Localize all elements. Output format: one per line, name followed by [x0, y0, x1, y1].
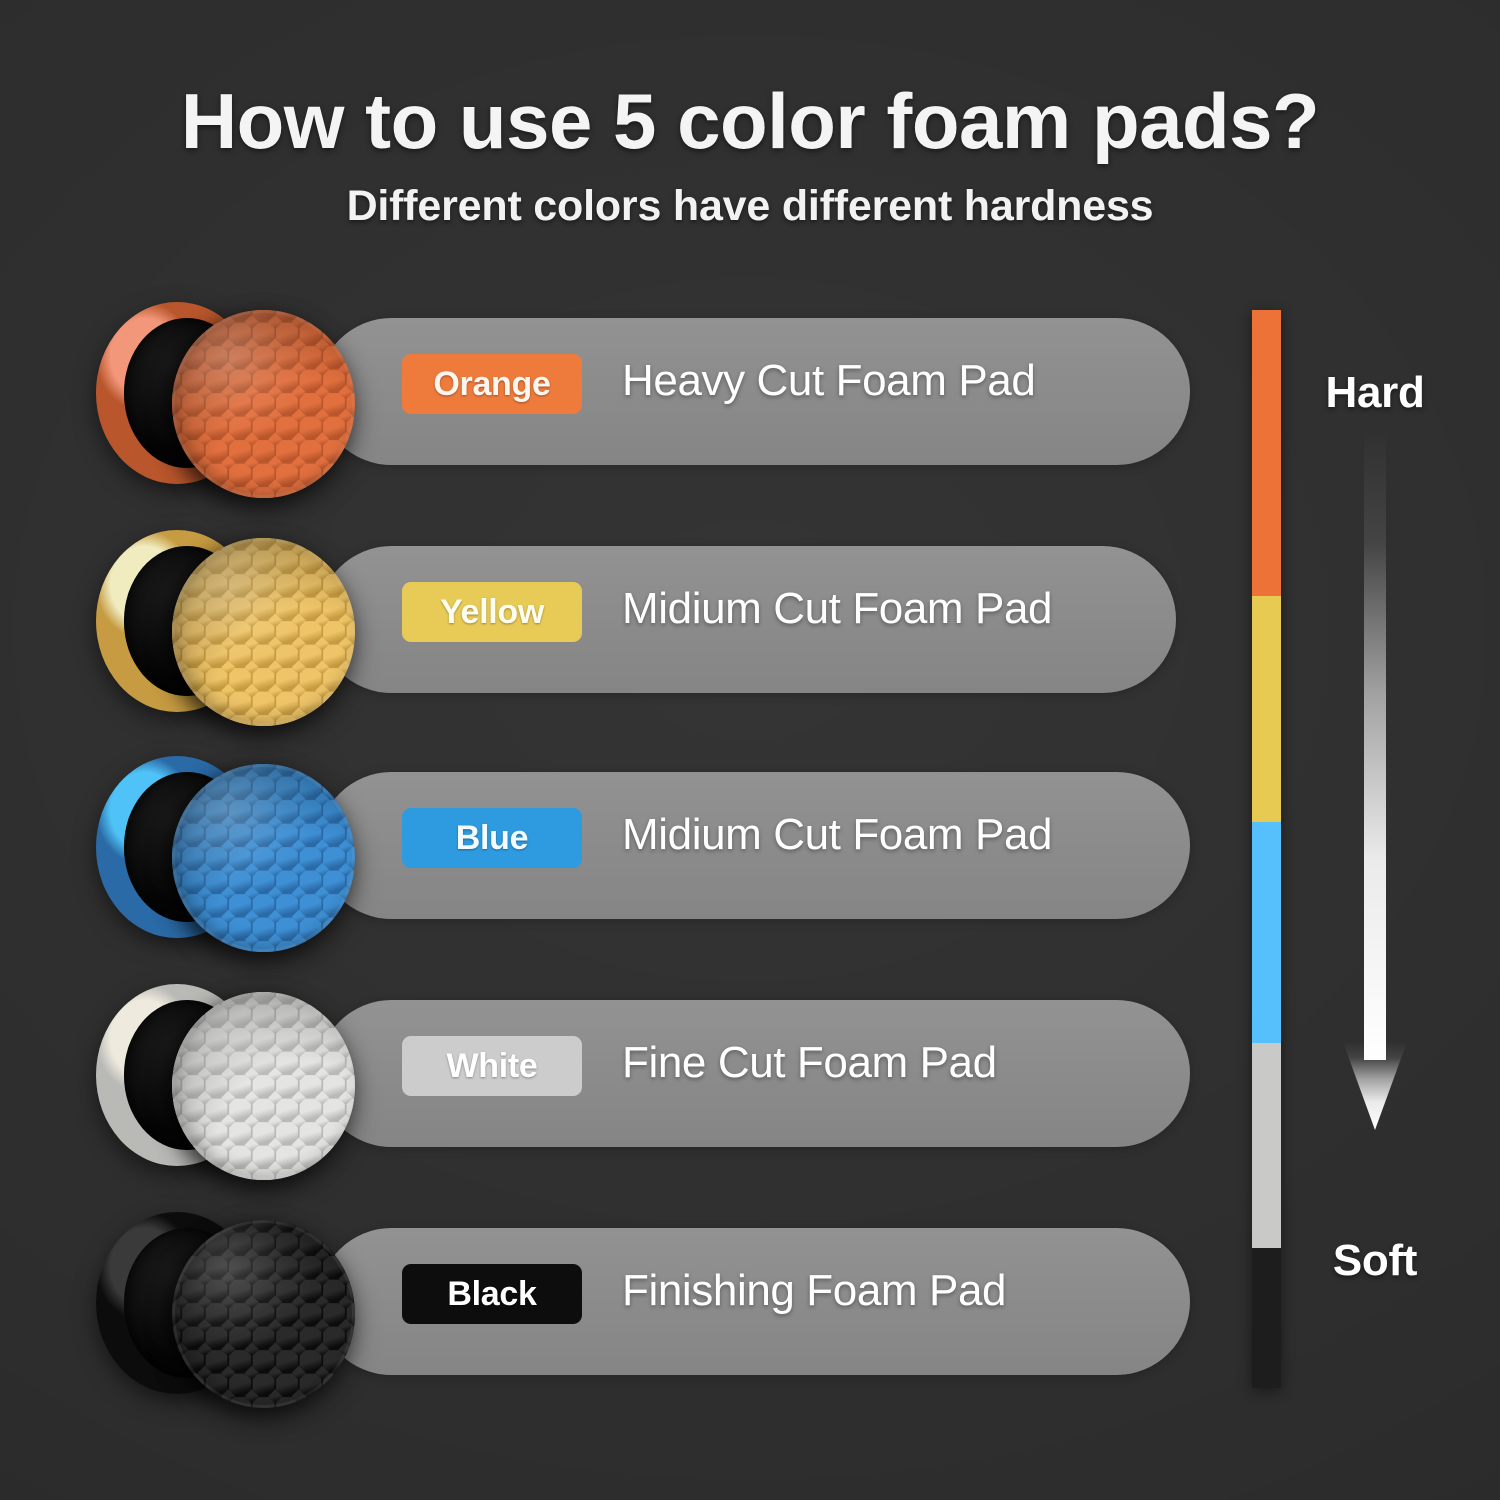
color-badge-orange[interactable]: Orange — [402, 354, 582, 414]
foam-pad-pair — [96, 524, 356, 734]
color-badge-yellow[interactable]: Yellow — [402, 582, 582, 642]
hardness-label-hard: Hard — [1275, 368, 1475, 418]
pad-description: Midium Cut Foam Pad — [622, 810, 1052, 860]
pad-edge — [172, 1220, 355, 1408]
infographic-canvas: How to use 5 color foam pads? Different … — [0, 0, 1500, 1500]
pad-edge — [172, 538, 355, 726]
foam-pad-pair — [96, 750, 356, 960]
pad-description: Fine Cut Foam Pad — [622, 1038, 997, 1088]
foam-pad-working-face — [172, 310, 355, 498]
foam-pad-pair — [96, 978, 356, 1188]
pad-edge — [172, 310, 355, 498]
hardness-segment-blue — [1252, 822, 1281, 1043]
hardness-color-scale — [1252, 310, 1281, 1388]
color-badge-blue[interactable]: Blue — [402, 808, 582, 868]
hardness-label-soft: Soft — [1275, 1236, 1475, 1286]
hardness-segment-white — [1252, 1043, 1281, 1248]
foam-pad-working-face — [172, 538, 355, 726]
pad-description: Midium Cut Foam Pad — [622, 584, 1052, 634]
hardness-direction-arrow-icon — [1337, 430, 1413, 1130]
foam-pad-working-face — [172, 764, 355, 952]
pad-description: Finishing Foam Pad — [622, 1266, 1006, 1316]
hardness-segment-orange — [1252, 310, 1281, 596]
pad-edge — [172, 764, 355, 952]
hardness-segment-yellow — [1252, 596, 1281, 822]
foam-pad-working-face — [172, 1220, 355, 1408]
page-subtitle: Different colors have different hardness — [0, 182, 1500, 231]
color-badge-black[interactable]: Black — [402, 1264, 582, 1324]
page-title: How to use 5 color foam pads? — [0, 82, 1500, 160]
pad-edge — [172, 992, 355, 1180]
foam-pad-pair — [96, 296, 356, 506]
foam-pad-working-face — [172, 992, 355, 1180]
pad-description: Heavy Cut Foam Pad — [622, 356, 1035, 406]
foam-pad-pair — [96, 1206, 356, 1416]
color-badge-white[interactable]: White — [402, 1036, 582, 1096]
